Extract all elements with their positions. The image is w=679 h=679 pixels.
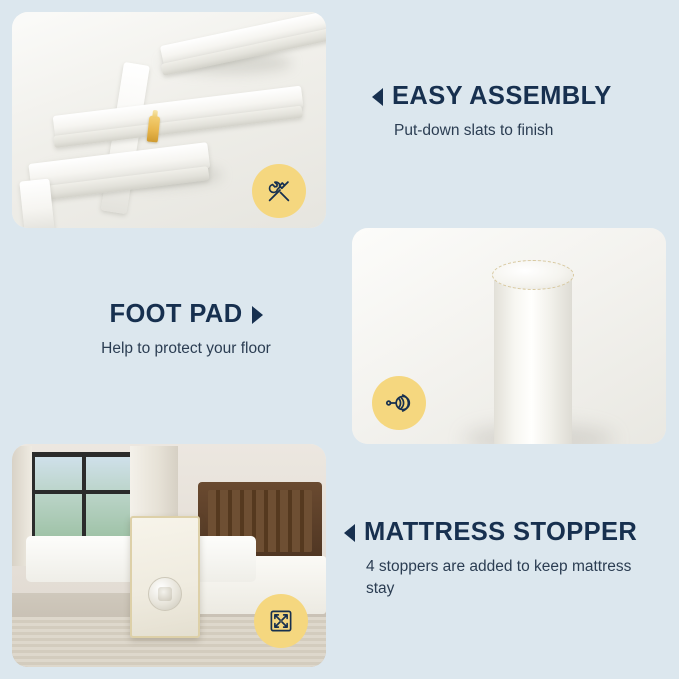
heading-foot-pad: FOOT PAD [36, 300, 336, 329]
window [30, 452, 138, 544]
bed-frame-post [19, 179, 54, 228]
photo-mattress-stopper [12, 444, 326, 667]
mattress-stopper-panel [130, 516, 200, 638]
screwdriver-wrench-icon [264, 176, 294, 206]
product-feature-infographic: EASY ASSEMBLY Put-down slats to finish [0, 0, 679, 679]
arrow-left-icon [344, 524, 355, 542]
badge-foot-pad [372, 376, 426, 430]
expand-arrows-icon [267, 607, 295, 635]
bed-leg [494, 274, 572, 444]
text-block-foot-pad: FOOT PAD Help to protect your floor [36, 300, 336, 360]
text-block-mattress-stopper: MATTRESS STOPPER 4 stoppers are added to… [344, 518, 646, 601]
foot-pad-icon [384, 388, 414, 418]
subtitle-foot-pad: Help to protect your floor [36, 338, 336, 360]
subtitle-easy-assembly: Put-down slats to finish [394, 120, 612, 142]
arrow-right-icon [252, 306, 263, 324]
subtitle-mattress-stopper: 4 stoppers are added to keep mattress st… [366, 556, 646, 601]
heading-mattress-stopper: MATTRESS STOPPER [344, 518, 646, 547]
badge-screwdriver-wrench [252, 164, 306, 218]
photo-foot-pad [352, 228, 666, 444]
heading-easy-assembly: EASY ASSEMBLY [372, 82, 612, 111]
arrow-left-icon [372, 88, 383, 106]
photo-easy-assembly [12, 12, 326, 228]
stopper-knob [148, 577, 182, 611]
foot-pad-cap [492, 260, 574, 290]
text-block-easy-assembly: EASY ASSEMBLY Put-down slats to finish [372, 82, 612, 142]
badge-expand-arrows [254, 594, 308, 648]
